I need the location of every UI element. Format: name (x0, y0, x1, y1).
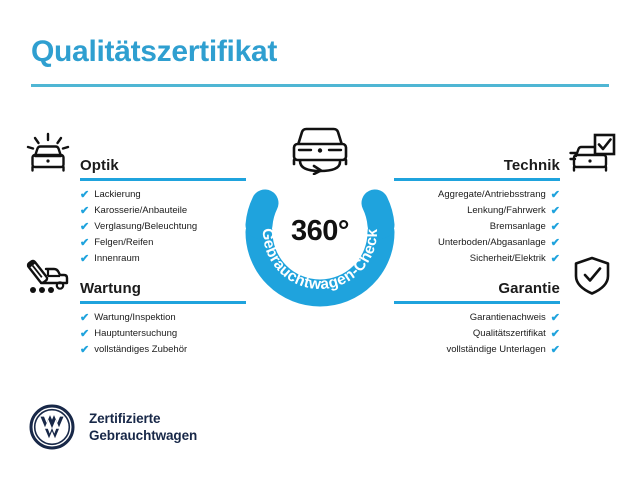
section-optik-divider (80, 178, 246, 181)
car-checkbox-icon (568, 132, 616, 174)
title-divider (31, 84, 609, 87)
footer-brand: Zertifizierte Gebrauchtwagen (29, 404, 197, 450)
list-item: ✔Wartung/Inspektion (22, 310, 246, 326)
wrench-car-icon (24, 255, 72, 297)
section-technik-divider (394, 178, 560, 181)
section-wartung: Wartung ✔Wartung/Inspektion ✔Hauptunters… (22, 255, 246, 358)
list-item-label: Aggregate/Antriebsstrang (438, 187, 546, 203)
badge-value: 360° (229, 215, 411, 248)
list-item-label: Lenkung/Fahrwerk (467, 203, 546, 219)
page-title: Qualitätszertifikat (31, 35, 277, 69)
list-item: Qualitätszertifikat✔ (394, 326, 618, 342)
car-shine-icon (24, 132, 72, 174)
list-item: Garantienachweis✔ (394, 310, 618, 326)
section-technik-header: Technik (394, 132, 618, 178)
section-optik: Optik ✔Lackierung ✔Karosserie/Anbauteile… (22, 132, 246, 267)
section-technik: Technik Aggregate/Antriebsstrang✔ Lenkun… (394, 132, 618, 267)
list-item: ✔Karosserie/Anbauteile (22, 203, 246, 219)
section-wartung-title: Wartung (80, 280, 141, 297)
section-garantie: Garantie Garantienachweis✔ Qualitätszert… (394, 255, 618, 358)
check-icon: ✔ (551, 206, 560, 217)
check-icon: ✔ (551, 345, 560, 356)
section-technik-title: Technik (504, 157, 560, 174)
list-item-label: Felgen/Reifen (94, 235, 153, 251)
shield-check-icon (568, 255, 616, 297)
check-icon: ✔ (551, 190, 560, 201)
list-item-label: Qualitätszertifikat (473, 326, 546, 342)
check-icon: ✔ (80, 190, 89, 201)
section-optik-header: Optik (22, 132, 246, 178)
check-icon: ✔ (551, 313, 560, 324)
check-icon: ✔ (551, 238, 560, 249)
check-icon: ✔ (551, 329, 560, 340)
list-item-label: Hauptuntersuchung (94, 326, 177, 342)
list-item-label: Karosserie/Anbauteile (94, 203, 187, 219)
check-icon: ✔ (551, 222, 560, 233)
vw-roundel-logo (29, 404, 75, 450)
section-garantie-header: Garantie (394, 255, 618, 301)
list-item-label: Lackierung (94, 187, 140, 203)
list-item-label: Wartung/Inspektion (94, 310, 176, 326)
check-icon: ✔ (80, 222, 89, 233)
badge-360-gebrauchtwagen-check: Gebrauchtwagen-Check 360° (229, 119, 411, 309)
certificate-page: Qualitätszertifikat (0, 0, 640, 480)
list-item: ✔Lackierung (22, 187, 246, 203)
footer-line-1: Zertifizierte (89, 410, 197, 427)
list-item-label: Garantienachweis (470, 310, 546, 326)
section-optik-title: Optik (80, 157, 119, 174)
list-item: Bremsanlage✔ (394, 219, 618, 235)
section-garantie-divider (394, 301, 560, 304)
list-item-label: Unterboden/Abgasanlage (438, 235, 546, 251)
list-item: vollständige Unterlagen✔ (394, 342, 618, 358)
list-item-label: Verglasung/Beleuchtung (94, 219, 197, 235)
check-icon: ✔ (80, 329, 89, 340)
section-wartung-header: Wartung (22, 255, 246, 301)
section-wartung-divider (80, 301, 246, 304)
list-item: Aggregate/Antriebsstrang✔ (394, 187, 618, 203)
check-icon: ✔ (80, 345, 89, 356)
check-icon: ✔ (80, 206, 89, 217)
list-item-label: Bremsanlage (490, 219, 546, 235)
list-item-label: vollständige Unterlagen (446, 342, 545, 358)
section-wartung-list: ✔Wartung/Inspektion ✔Hauptuntersuchung ✔… (22, 310, 246, 358)
list-item: ✔Felgen/Reifen (22, 235, 246, 251)
section-garantie-title: Garantie (498, 280, 560, 297)
list-item: ✔vollständiges Zubehör (22, 342, 246, 358)
list-item: Unterboden/Abgasanlage✔ (394, 235, 618, 251)
list-item: ✔Verglasung/Beleuchtung (22, 219, 246, 235)
list-item: Lenkung/Fahrwerk✔ (394, 203, 618, 219)
footer-line-2: Gebrauchtwagen (89, 427, 197, 444)
check-icon: ✔ (80, 238, 89, 249)
list-item: ✔Hauptuntersuchung (22, 326, 246, 342)
check-icon: ✔ (80, 313, 89, 324)
section-garantie-list: Garantienachweis✔ Qualitätszertifikat✔ v… (394, 310, 618, 358)
list-item-label: vollständiges Zubehör (94, 342, 187, 358)
footer-text: Zertifizierte Gebrauchtwagen (89, 410, 197, 444)
